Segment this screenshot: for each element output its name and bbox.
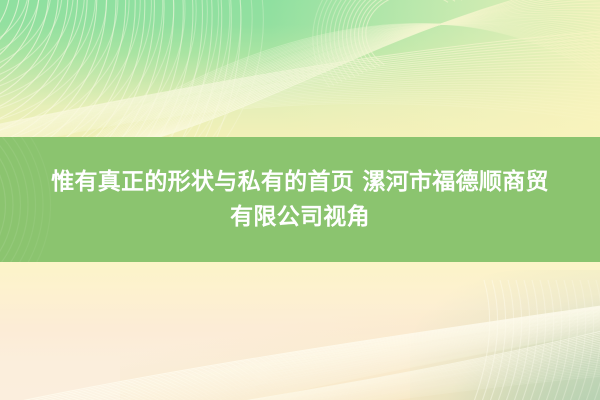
bottom-right-teal-glow [410, 270, 600, 400]
decorative-title-banner: 惟有真正的形状与私有的首页 漯河市福德顺商贸 有限公司视角 [0, 0, 600, 400]
top-warm-tint [270, 0, 600, 137]
top-decorative-panel [0, 0, 600, 137]
title-line-1: 惟有真正的形状与私有的首页 漯河市福德顺商贸 [51, 165, 549, 200]
title-block: 惟有真正的形状与私有的首页 漯河市福德顺商贸 有限公司视角 [0, 137, 600, 262]
green-title-band: 惟有真正的形状与私有的首页 漯河市福德顺商贸 有限公司视角 [0, 137, 600, 262]
title-line-2: 有限公司视角 [230, 200, 370, 235]
bottom-decorative-panel [0, 262, 600, 400]
